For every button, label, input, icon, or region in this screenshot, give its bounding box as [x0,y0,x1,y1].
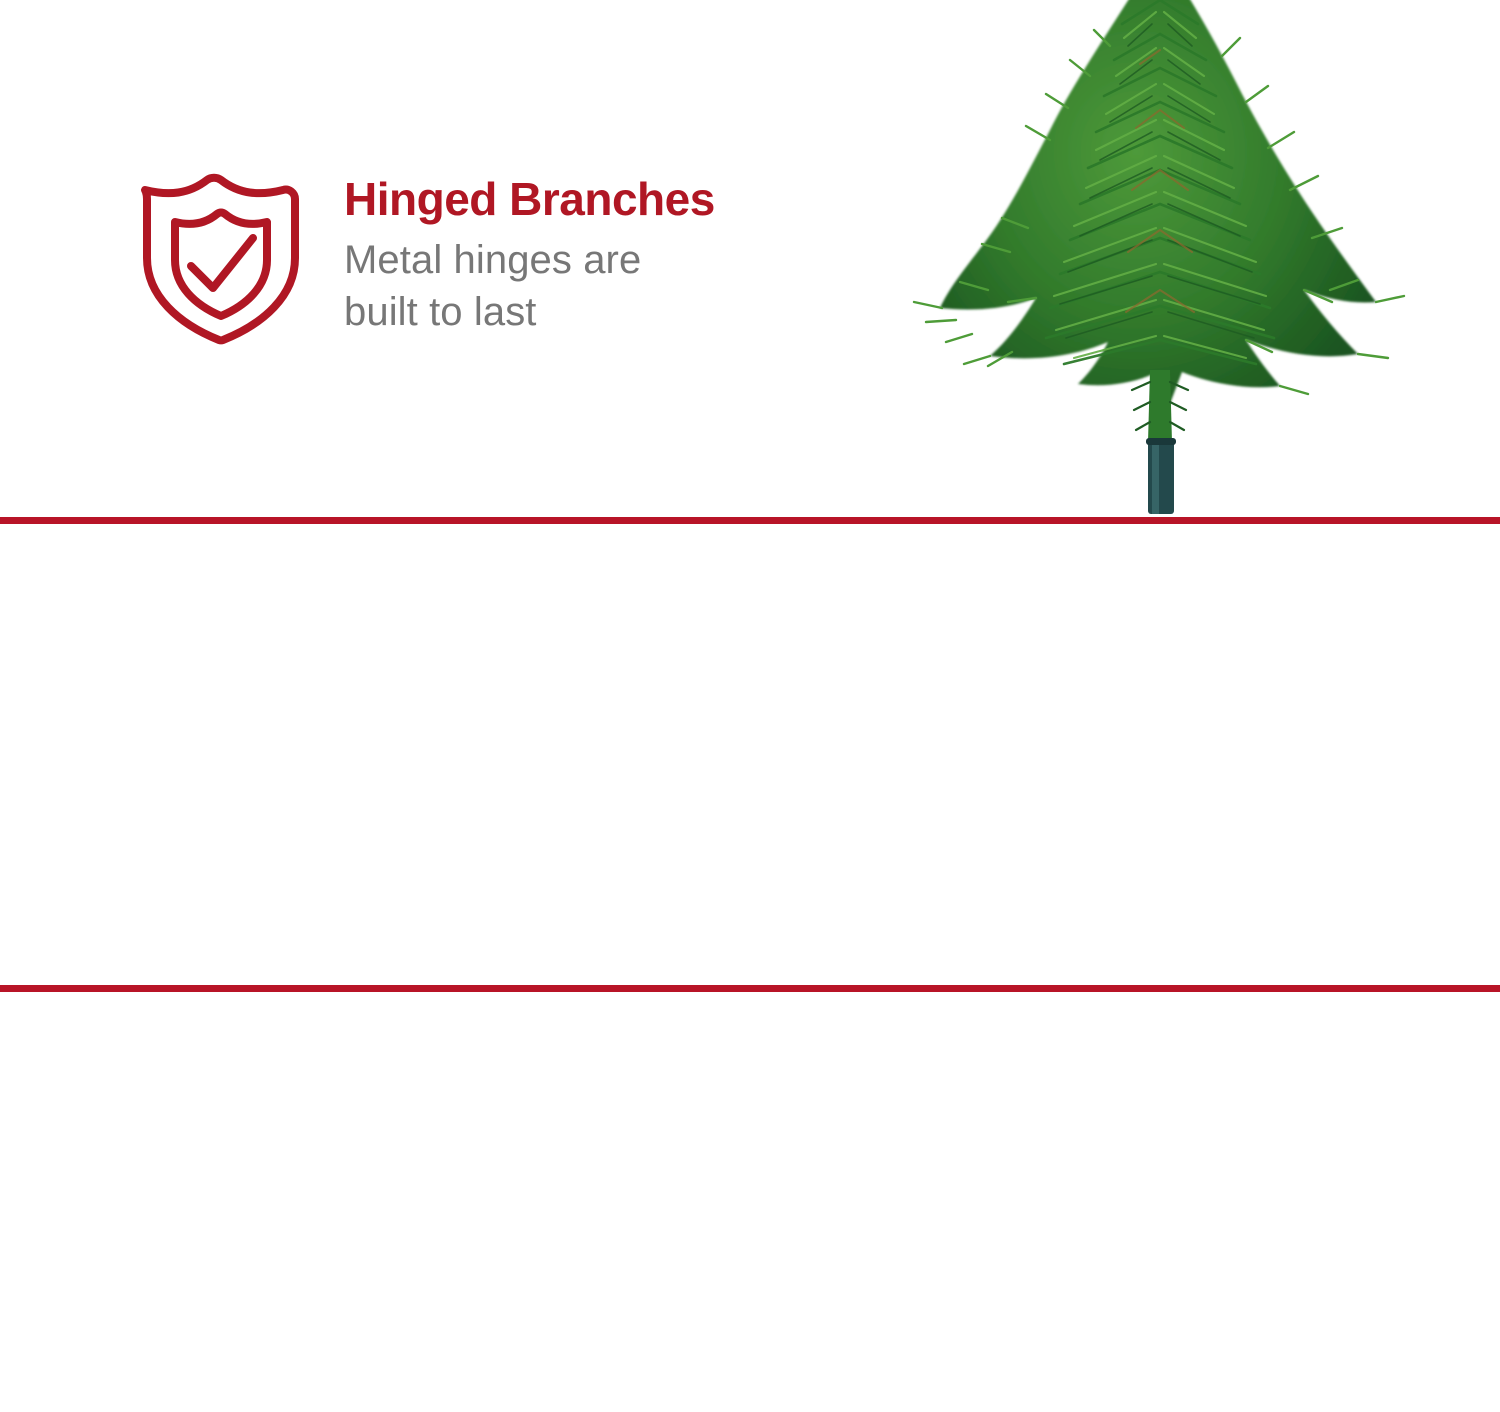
feature-panel-pvc-tips: PVC Tips Flame-retardant and easy to flu… [0,524,1500,985]
infographic-page: Hinged Branches Metal hinges are built t… [0,0,1500,1412]
feature-text-hinged-branches: Hinged Branches Metal hinges are built t… [344,172,715,338]
shield-check-icon [131,166,311,346]
feature-description-hinged-branches: Metal hinges are built to last [344,234,715,338]
feature-title-hinged-branches: Hinged Branches [344,172,715,226]
feature-description-line: Metal hinges are [344,234,715,286]
feature-panel-sturdy-base: Sturdy Base A reliable metal stand for y… [0,992,1500,1412]
feature-description-line: built to last [344,286,715,338]
christmas-tree-top-photo [860,0,1500,518]
feature-panel-hinged-branches: Hinged Branches Metal hinges are built t… [0,0,1500,518]
divider-line-bottom [0,985,1500,992]
divider-line-top [0,517,1500,524]
